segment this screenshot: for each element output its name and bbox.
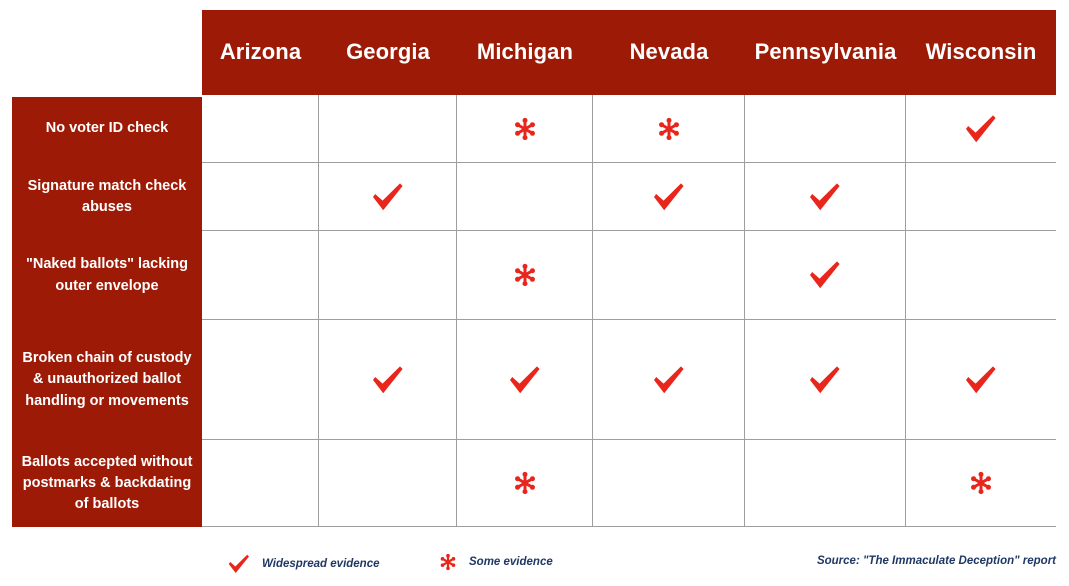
asterisk-icon <box>437 551 459 573</box>
check-icon <box>369 178 407 216</box>
legend-label: Some evidence <box>469 556 553 568</box>
cell-2-5 <box>906 231 1056 319</box>
cell-2-0 <box>202 231 319 319</box>
table-row <box>202 440 1056 527</box>
column-header-arizona: Arizona <box>202 40 319 64</box>
check-icon <box>369 361 407 399</box>
table-row <box>202 231 1056 320</box>
row-label-0: No voter ID check <box>12 95 202 163</box>
column-header-georgia: Georgia <box>319 40 457 64</box>
grid-body <box>202 95 1056 527</box>
cell-1-1 <box>319 163 457 230</box>
cell-1-5 <box>906 163 1056 230</box>
cell-1-2 <box>457 163 593 230</box>
check-icon <box>806 178 844 216</box>
cell-4-3 <box>593 440 745 526</box>
row-label-4: Ballots accepted without postmarks & bac… <box>12 440 202 527</box>
table-row <box>202 320 1056 440</box>
cell-3-1 <box>319 320 457 439</box>
asterisk-icon <box>510 260 540 290</box>
cell-4-2 <box>457 440 593 526</box>
asterisk-icon <box>510 114 540 144</box>
cell-0-4 <box>745 95 906 162</box>
table-row <box>202 95 1056 163</box>
cell-1-3 <box>593 163 745 230</box>
cell-3-4 <box>745 320 906 439</box>
check-icon <box>226 551 252 577</box>
table-row <box>202 163 1056 231</box>
source-note: Source: "The Immaculate Deception" repor… <box>817 555 1056 567</box>
cell-4-0 <box>202 440 319 526</box>
column-header-band: ArizonaGeorgiaMichiganNevadaPennsylvania… <box>202 10 1056 95</box>
asterisk-icon <box>966 468 996 498</box>
legend: Source: "The Immaculate Deception" repor… <box>0 543 1069 586</box>
check-icon <box>806 256 844 294</box>
cell-0-0 <box>202 95 319 162</box>
cell-0-2 <box>457 95 593 162</box>
legend-item-0: Widespread evidence <box>226 551 380 577</box>
cell-0-5 <box>906 95 1056 162</box>
check-icon <box>962 361 1000 399</box>
check-icon <box>806 361 844 399</box>
row-label-band: No voter ID checkSignature match check a… <box>12 97 202 527</box>
legend-label: Widespread evidence <box>262 558 380 570</box>
cell-4-4 <box>745 440 906 526</box>
cell-3-5 <box>906 320 1056 439</box>
cell-2-1 <box>319 231 457 319</box>
column-header-nevada: Nevada <box>593 40 745 64</box>
check-icon <box>962 110 1000 148</box>
cell-2-3 <box>593 231 745 319</box>
cell-3-3 <box>593 320 745 439</box>
column-header-michigan: Michigan <box>457 40 593 64</box>
cell-1-0 <box>202 163 319 230</box>
check-icon <box>506 361 544 399</box>
cell-3-0 <box>202 320 319 439</box>
check-icon <box>650 178 688 216</box>
check-icon <box>650 361 688 399</box>
column-header-wisconsin: Wisconsin <box>906 40 1056 64</box>
cell-2-4 <box>745 231 906 319</box>
cell-1-4 <box>745 163 906 230</box>
row-label-2: "Naked ballots" lacking outer envelope <box>12 231 202 320</box>
cell-4-5 <box>906 440 1056 526</box>
cell-4-1 <box>319 440 457 526</box>
evidence-matrix: ArizonaGeorgiaMichiganNevadaPennsylvania… <box>0 0 1069 586</box>
cell-0-1 <box>319 95 457 162</box>
row-label-1: Signature match check abuses <box>12 163 202 231</box>
cell-0-3 <box>593 95 745 162</box>
row-label-3: Broken chain of custody & unauthorized b… <box>12 320 202 440</box>
cell-2-2 <box>457 231 593 319</box>
cell-3-2 <box>457 320 593 439</box>
asterisk-icon <box>654 114 684 144</box>
asterisk-icon <box>510 468 540 498</box>
legend-item-1: Some evidence <box>437 551 553 573</box>
column-header-pennsylvania: Pennsylvania <box>745 40 906 64</box>
